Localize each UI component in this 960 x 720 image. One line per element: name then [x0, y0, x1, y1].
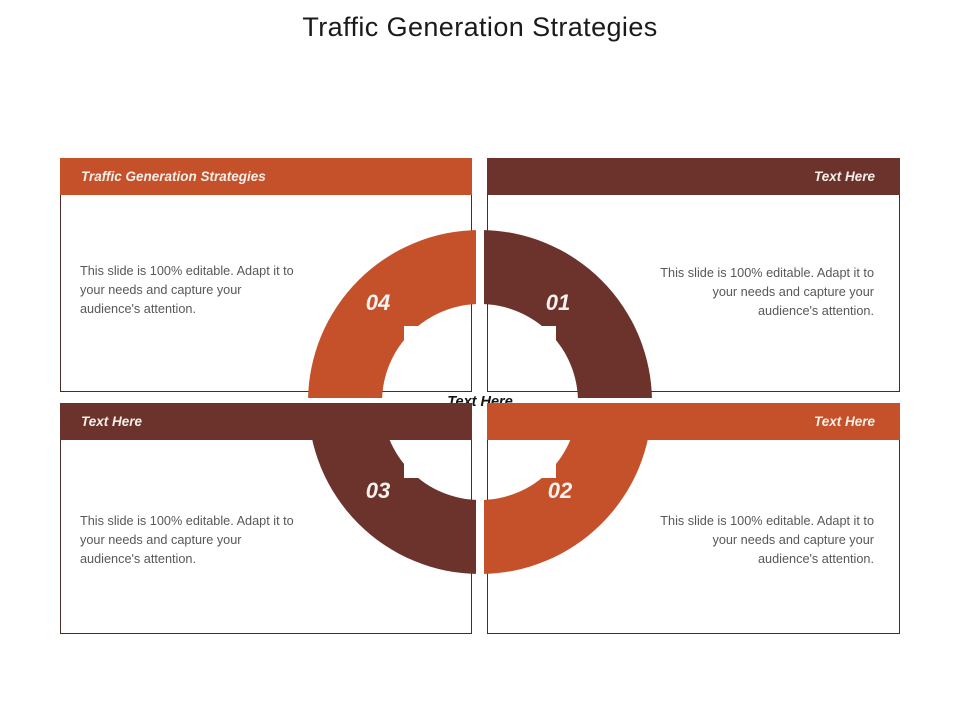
card-bottom-left-header[interactable]: Text Here [60, 403, 472, 440]
card-top-left-header[interactable]: Traffic Generation Strategies [60, 158, 472, 195]
card-top-left-header-label: Traffic Generation Strategies [81, 169, 266, 184]
card-bottom-right-header[interactable]: Text Here [487, 403, 900, 440]
donut-segment-01 [480, 230, 652, 402]
donut-number-04: 04 [366, 290, 390, 315]
card-top-right-header[interactable]: Text Here [487, 158, 900, 195]
card-bottom-left-body: This slide is 100% editable. Adapt it to… [80, 512, 302, 569]
card-top-left-body: This slide is 100% editable. Adapt it to… [80, 262, 302, 319]
donut-number-03: 03 [366, 478, 390, 503]
card-top-right-header-label: Text Here [814, 169, 875, 184]
card-bottom-left-header-label: Text Here [81, 414, 142, 429]
donut-number-01: 01 [546, 290, 570, 315]
page-title: Traffic Generation Strategies [0, 12, 960, 43]
donut-number-02: 02 [548, 478, 573, 503]
donut-diagram: 04 01 03 02 Text Here [308, 230, 652, 574]
card-top-right-body: This slide is 100% editable. Adapt it to… [652, 264, 874, 321]
card-bottom-right-body: This slide is 100% editable. Adapt it to… [652, 512, 874, 569]
card-bottom-right-header-label: Text Here [814, 414, 875, 429]
slide-canvas: Traffic Generation Strategies Traffic Ge… [0, 0, 960, 720]
donut-segment-04 [308, 230, 480, 402]
